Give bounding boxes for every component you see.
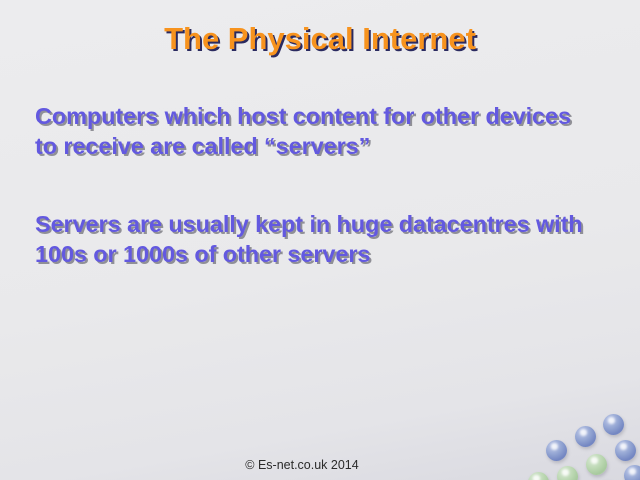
slide-title: The Physical Internet [0,21,640,57]
copyright-footer: © Es-net.co.uk 2014 [0,458,604,472]
sphere-blue-icon [603,414,624,435]
slide-canvas: The Physical Internet Computers which ho… [0,0,640,480]
sphere-green-icon [528,472,549,480]
body-paragraph-1: Computers which host content for other d… [35,101,595,161]
sphere-blue-icon [615,440,636,461]
slide-body: Computers which host content for other d… [35,101,595,269]
sphere-blue-icon [575,426,596,447]
body-paragraph-2: Servers are usually kept in huge datacen… [35,209,595,269]
sphere-blue-icon [624,465,640,480]
